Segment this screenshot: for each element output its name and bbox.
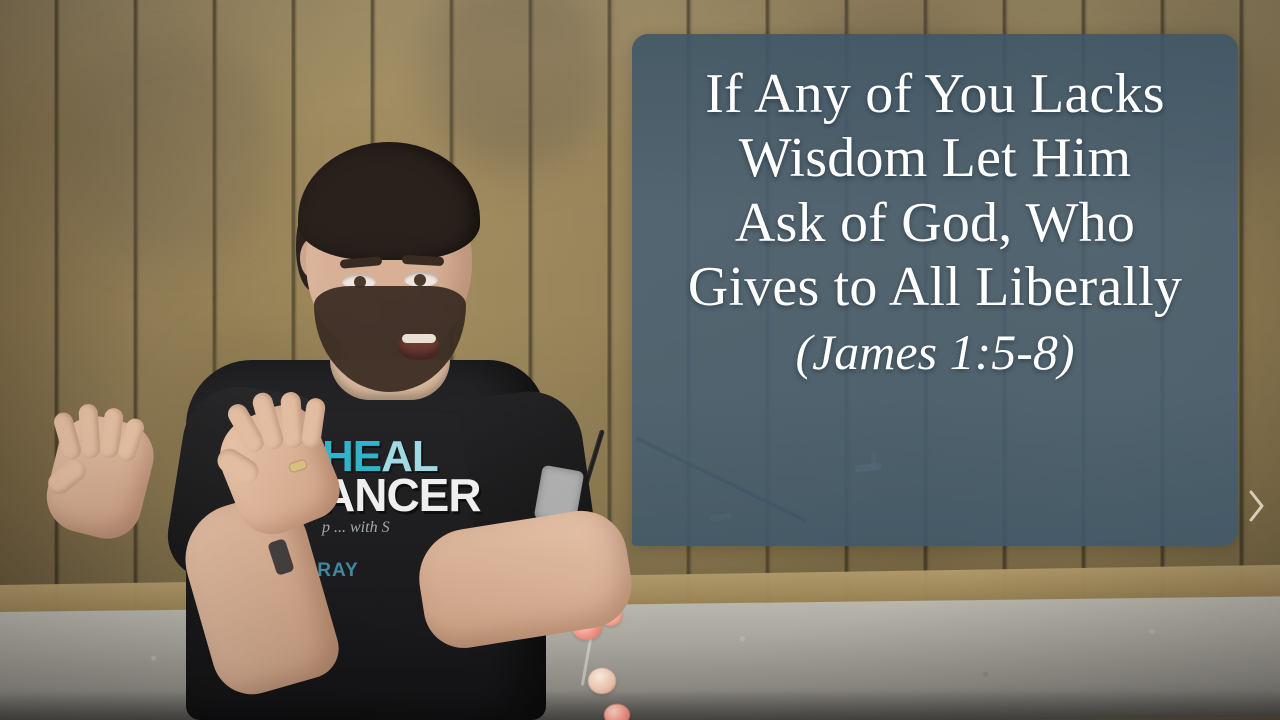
- finger: [78, 403, 101, 458]
- scripture-caption-panel: If Any of You Lacks Wisdom Let Him Ask o…: [632, 34, 1238, 546]
- speaker-figure: HEAL ANCER p ... with S #PRAY: [0, 0, 660, 720]
- pupil: [414, 274, 426, 286]
- teeth: [402, 334, 436, 343]
- caption-line-1: If Any of You Lacks: [648, 62, 1222, 126]
- next-slide-button[interactable]: [1240, 478, 1274, 534]
- caption-line-4: Gives to All Liberally: [648, 255, 1222, 319]
- hair: [298, 142, 480, 260]
- video-player-frame[interactable]: HEAL ANCER p ... with S #PRAY: [0, 0, 1280, 720]
- caption-text-block: If Any of You Lacks Wisdom Let Him Ask o…: [632, 62, 1238, 382]
- caption-line-3: Ask of God, Who: [648, 191, 1222, 255]
- scripture-reference: (James 1:5-8): [648, 322, 1222, 382]
- finger: [280, 391, 304, 448]
- caption-line-2: Wisdom Let Him: [648, 126, 1222, 190]
- chevron-right-icon[interactable]: [1247, 489, 1267, 523]
- shirt-text-cancer: ANCER: [322, 474, 552, 518]
